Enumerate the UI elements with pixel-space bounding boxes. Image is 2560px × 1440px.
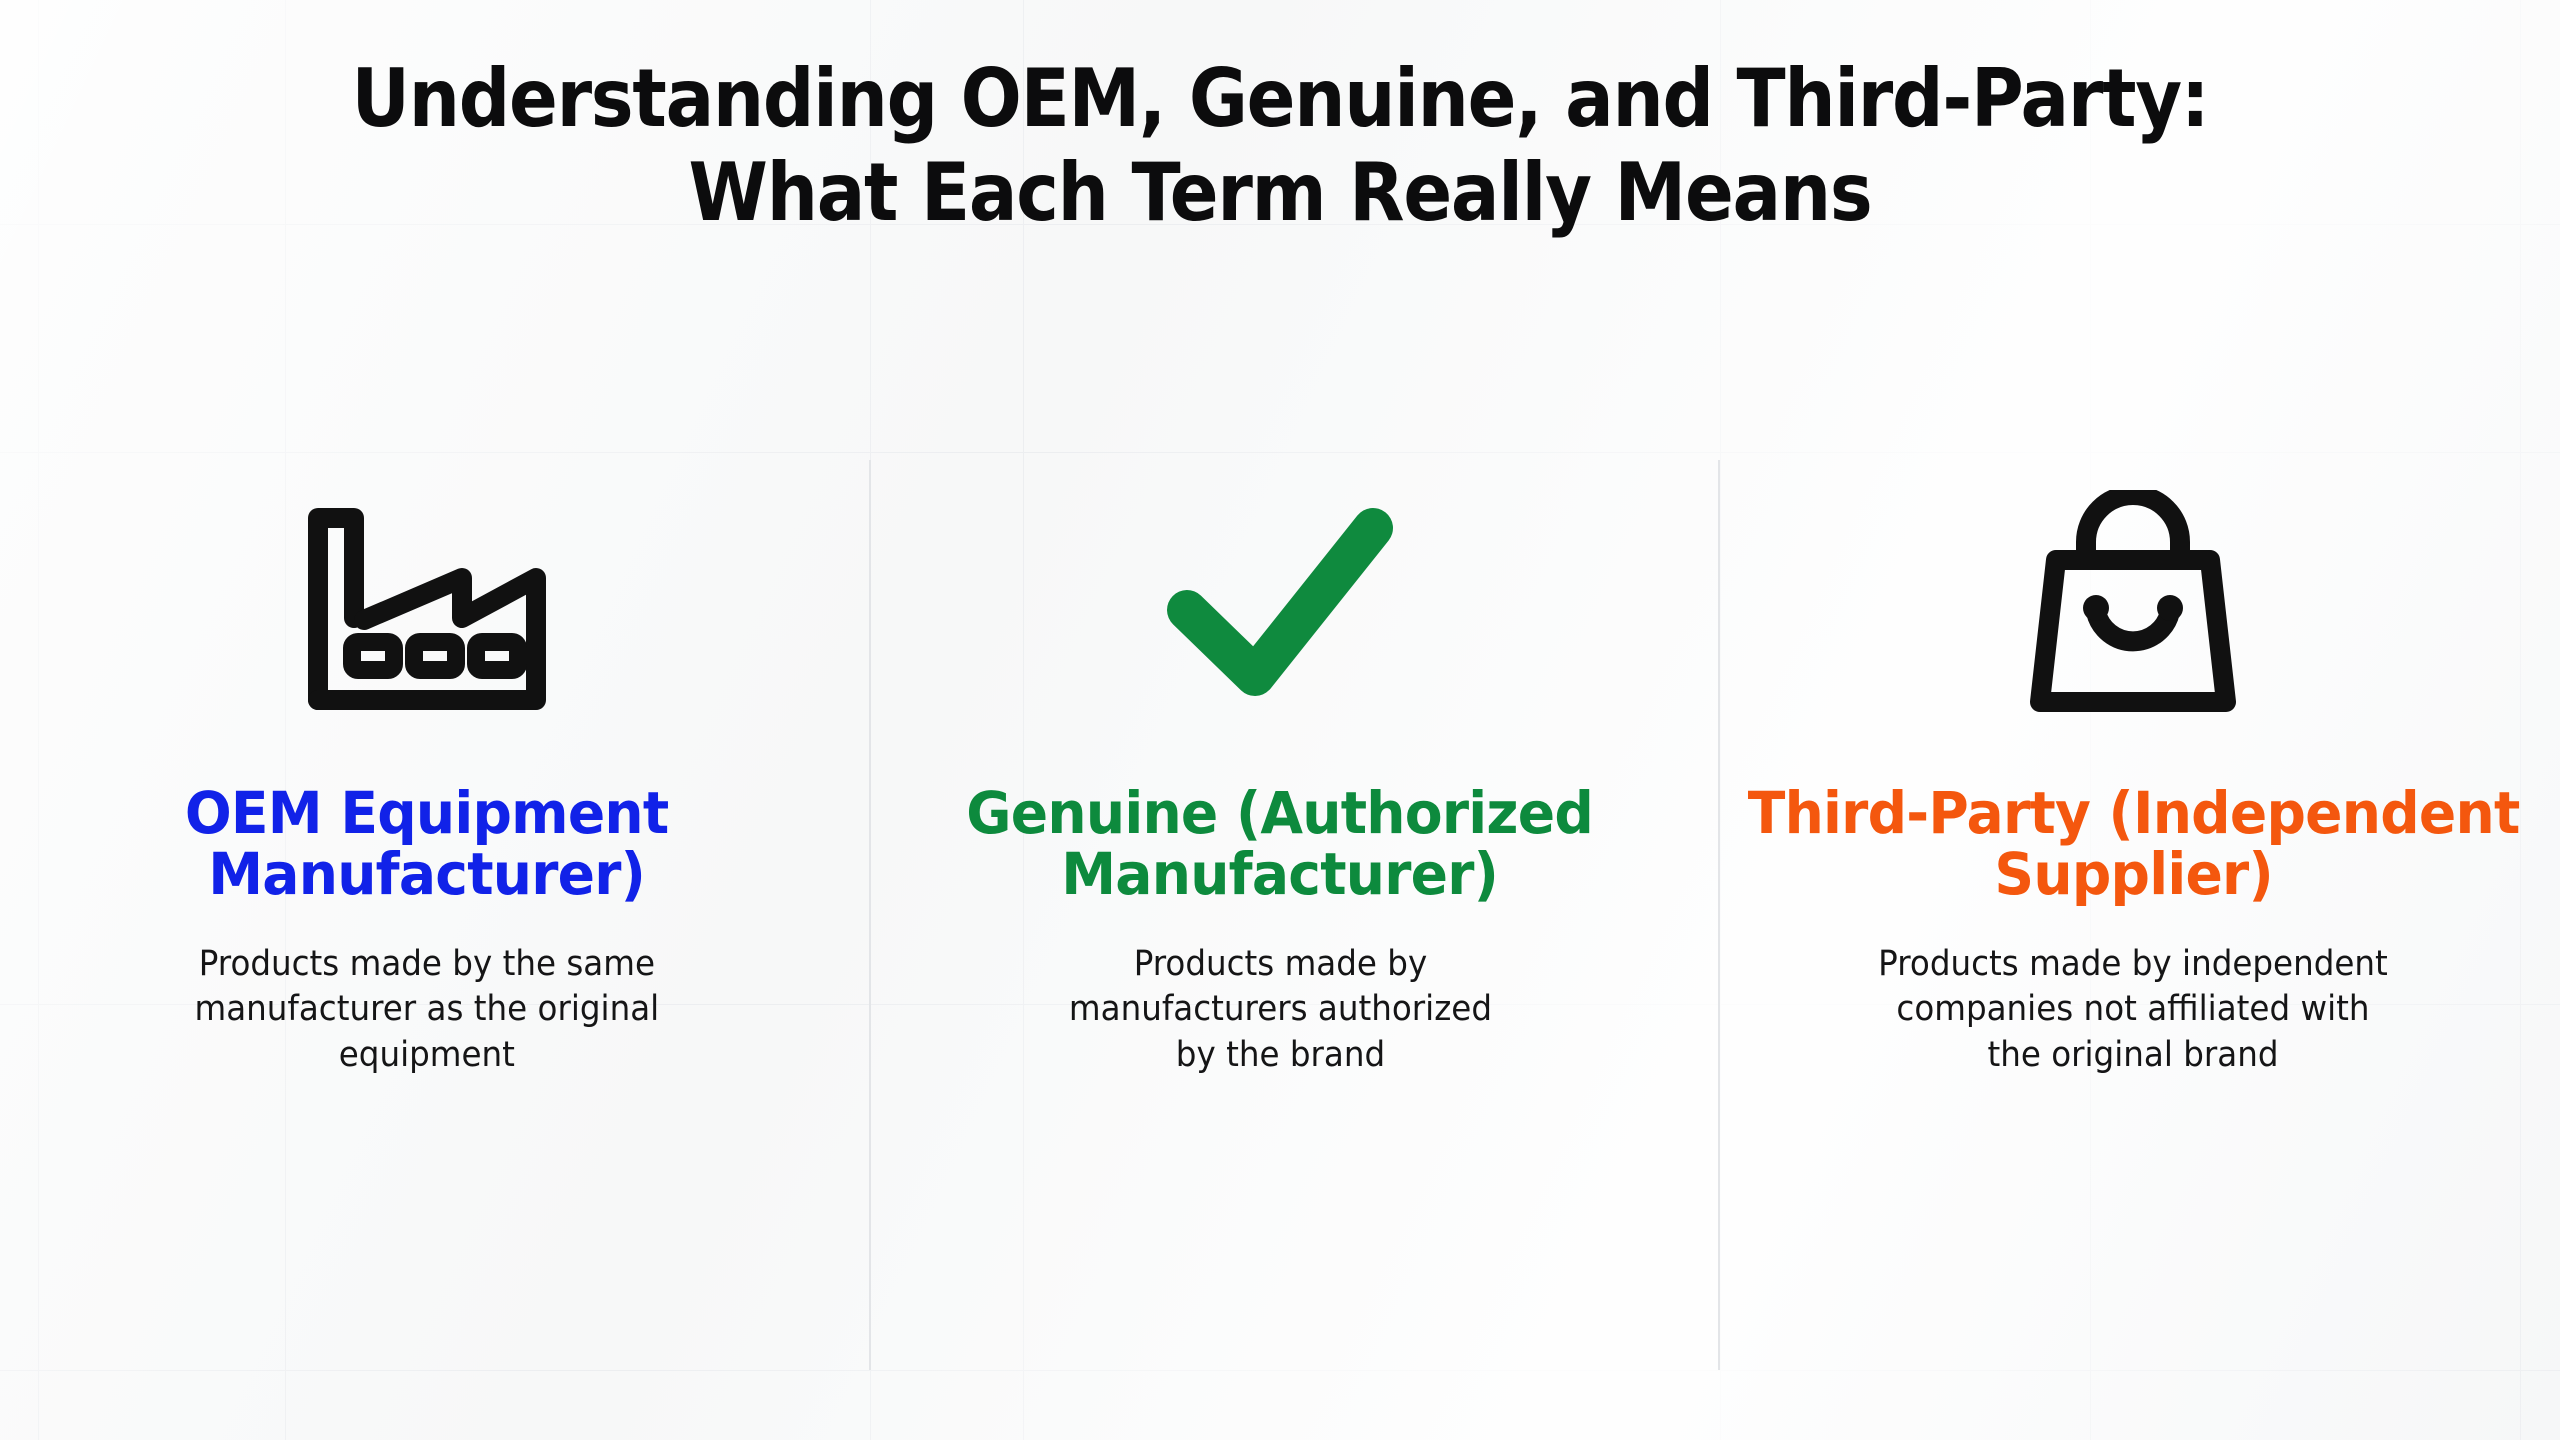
description-line: Products made by the same [194, 942, 659, 988]
infographic-canvas: Understanding OEM, Genuine, and Third-Pa… [0, 0, 2560, 1440]
heading-line: Supplier) [1994, 840, 2272, 908]
description-line: manufacturer as the original [194, 987, 659, 1033]
heading-line: Manufacturer) [1062, 840, 1499, 908]
column-genuine: Genuine (Authorized Manufacturer) Produc… [853, 455, 1706, 1078]
heading-line: OEM [185, 779, 322, 847]
description-line: manufacturers authorized [1068, 987, 1491, 1033]
column-oem: OEM Equipment Manufacturer) Products mad… [0, 455, 853, 1078]
heading-line: Genuine [967, 779, 1218, 847]
heading-line: Manufacturer) [208, 840, 645, 908]
heading-line: (Independent [2108, 779, 2519, 847]
checkmark-icon [1155, 455, 1405, 755]
title-line-1: Understanding OEM, Genuine, and Third-Pa… [128, 52, 2432, 146]
description-line: Products made by [1068, 942, 1491, 988]
column-heading-genuine: Genuine (Authorized Manufacturer) [875, 783, 1686, 906]
description-line: by the brand [1068, 1033, 1491, 1079]
description-line: Products made by independent [1879, 942, 2389, 988]
description-line: equipment [194, 1033, 659, 1079]
heading-line: Third-Party [1747, 779, 2089, 847]
column-third-party: Third-Party (Independent Supplier) Produ… [1707, 455, 2560, 1078]
description-line: companies not affiliated with [1879, 987, 2389, 1033]
column-description-genuine: Products made by manufacturers authorize… [1068, 942, 1491, 1079]
heading-line: (Authorized [1236, 779, 1593, 847]
column-heading-oem: OEM Equipment Manufacturer) [21, 783, 832, 906]
factory-icon [302, 455, 552, 755]
column-description-oem: Products made by the same manufacturer a… [194, 942, 659, 1079]
grid-line-horizontal [0, 1370, 2560, 1371]
grid-line-horizontal [0, 452, 2560, 453]
shopping-bag-icon [2008, 455, 2258, 755]
title-line-2: What Each Term Really Means [128, 146, 2432, 240]
column-description-third-party: Products made by independent companies n… [1879, 942, 2389, 1079]
description-line: the original brand [1879, 1033, 2389, 1079]
column-heading-third-party: Third-Party (Independent Supplier) [1728, 783, 2539, 906]
page-title: Understanding OEM, Genuine, and Third-Pa… [0, 52, 2560, 241]
columns-container: OEM Equipment Manufacturer) Products mad… [0, 455, 2560, 1078]
heading-line: Equipment [340, 779, 668, 847]
